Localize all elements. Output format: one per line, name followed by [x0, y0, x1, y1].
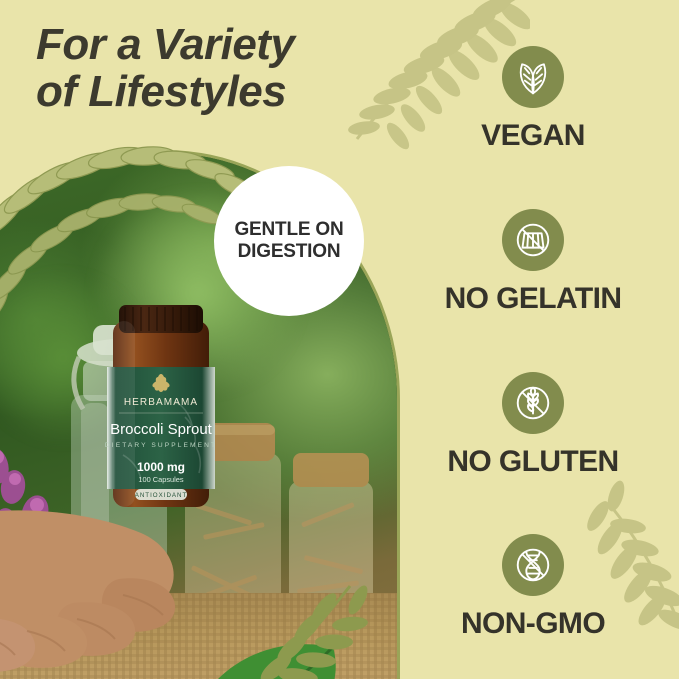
badge-circle [502, 372, 564, 434]
headline-line-2: of Lifestyles [36, 69, 396, 116]
gelatin-block-icon [512, 219, 554, 261]
badge-label: NON-GMO [461, 609, 605, 639]
badge-label: NO GLUTEN [447, 447, 618, 477]
badge-label: NO GELATIN [445, 284, 622, 314]
badge-circle [502, 534, 564, 596]
bottle-claim: ANTIOXIDANT [135, 492, 188, 499]
callout-line-2: DIGESTION [238, 241, 341, 263]
badge-label: VEGAN [481, 121, 585, 151]
promo-graphic: For a Variety of Lifestyles [0, 0, 679, 679]
badge-circle [502, 46, 564, 108]
gentle-on-digestion-badge: GENTLE ON DIGESTION [214, 166, 364, 316]
bottle-dosage: 1000 mg [137, 460, 185, 474]
two-leaves-icon [513, 57, 553, 97]
wheat-stalk-icon [512, 382, 554, 424]
callout-line-1: GENTLE ON [234, 219, 343, 241]
headline-line-1: For a Variety [36, 20, 294, 69]
badge-circle [502, 209, 564, 271]
badge-non-gmo: NON-GMO [418, 534, 648, 639]
page-title: For a Variety of Lifestyles [36, 22, 396, 115]
badge-no-gelatin: NO GELATIN [418, 209, 648, 314]
dna-helix-icon [512, 544, 554, 586]
badge-no-gluten: NO GLUTEN [418, 372, 648, 477]
badge-vegan: VEGAN [418, 46, 648, 151]
hand-icon [0, 483, 223, 679]
bottle-count: 100 Capsules [138, 475, 184, 484]
product-bottle: HERBAMAMA Broccoli Sprout DIETARY SUPPLE… [105, 305, 217, 510]
